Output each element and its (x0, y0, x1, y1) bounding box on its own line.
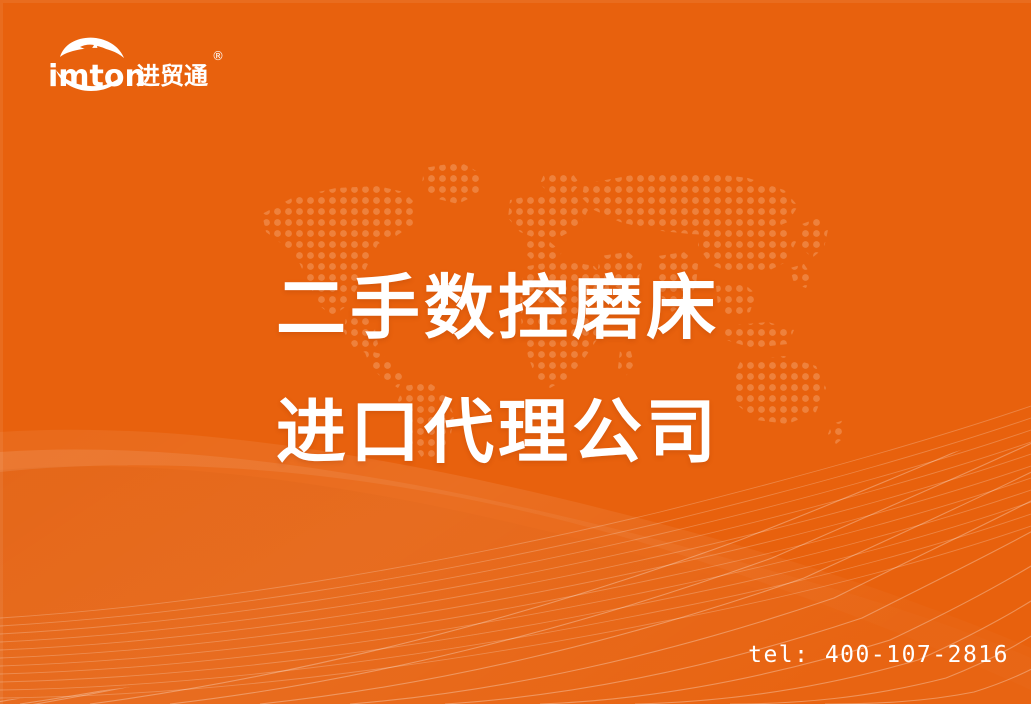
headline-block: 二手数控磨床 进口代理公司 (276, 246, 776, 494)
registered-trademark-icon: ® (212, 49, 224, 63)
phone-number[interactable]: tel: 400-107-2816 (748, 642, 1009, 668)
headline-line-1: 二手数控磨床 (276, 246, 776, 370)
brand-logo[interactable]: imton 进贸通 ® (44, 34, 234, 96)
poster-canvas: imton 进贸通 ® 二手数控磨床 进口代理公司 tel: 400-107-2… (0, 0, 1031, 704)
headline-line-2: 进口代理公司 (276, 370, 776, 494)
logo-latin-text: imton (48, 59, 146, 94)
logo-chinese-text: 进贸通 (136, 62, 208, 90)
